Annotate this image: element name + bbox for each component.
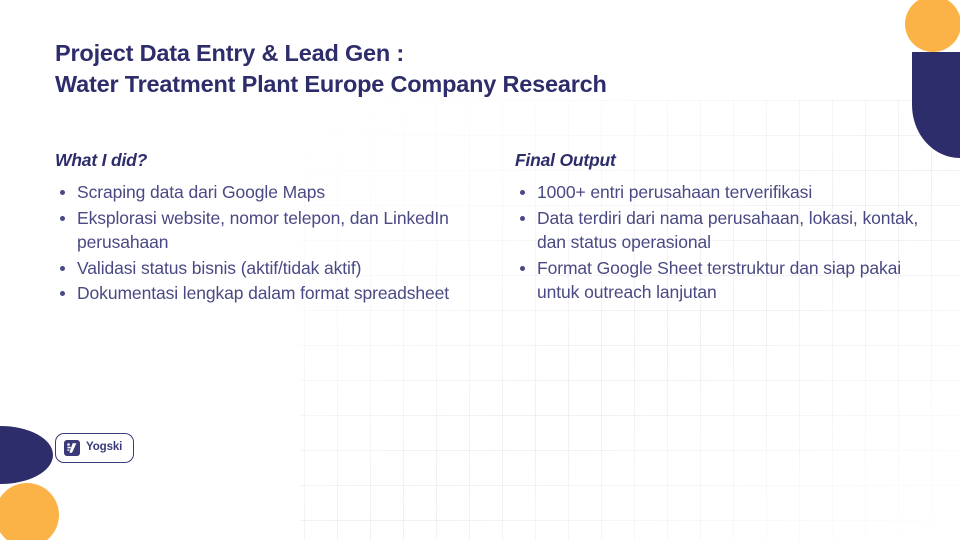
title-line-2: Water Treatment Plant Europe Company Res…	[55, 69, 755, 100]
decor-half-disc-top-right	[912, 52, 960, 158]
logo-text: Yogski	[86, 442, 122, 454]
list-item: Validasi status bisnis (aktif/tidak akti…	[55, 256, 495, 281]
bullet-list-right: 1000+ entri perusahaan terverifikasi Dat…	[515, 180, 945, 305]
list-item: Dokumentasi lengkap dalam format spreads…	[55, 281, 495, 306]
column-heading-left: What I did?	[55, 150, 495, 171]
slide-canvas: Project Data Entry & Lead Gen : Water Tr…	[0, 0, 960, 540]
list-item: 1000+ entri perusahaan terverifikasi	[515, 180, 945, 205]
logo-badge: Yogski	[55, 433, 134, 463]
list-item: Eksplorasi website, nomor telepon, dan L…	[55, 206, 495, 255]
bullet-list-left: Scraping data dari Google Maps Eksploras…	[55, 180, 495, 306]
yogski-logo-icon	[64, 440, 80, 456]
list-item: Scraping data dari Google Maps	[55, 180, 495, 205]
decor-circle-bottom-left	[0, 483, 59, 540]
list-item: Format Google Sheet terstruktur dan siap…	[515, 256, 945, 305]
list-item: Data terdiri dari nama perusahaan, lokas…	[515, 206, 945, 255]
decor-circle-top-right	[905, 0, 960, 52]
decor-quarter-disc-bottom-left	[0, 426, 53, 484]
column-heading-right: Final Output	[515, 150, 945, 171]
slide-title: Project Data Entry & Lead Gen : Water Tr…	[55, 38, 755, 100]
column-final-output: Final Output 1000+ entri perusahaan terv…	[515, 150, 945, 306]
title-line-1: Project Data Entry & Lead Gen :	[55, 38, 755, 69]
column-what-i-did: What I did? Scraping data dari Google Ma…	[55, 150, 495, 307]
